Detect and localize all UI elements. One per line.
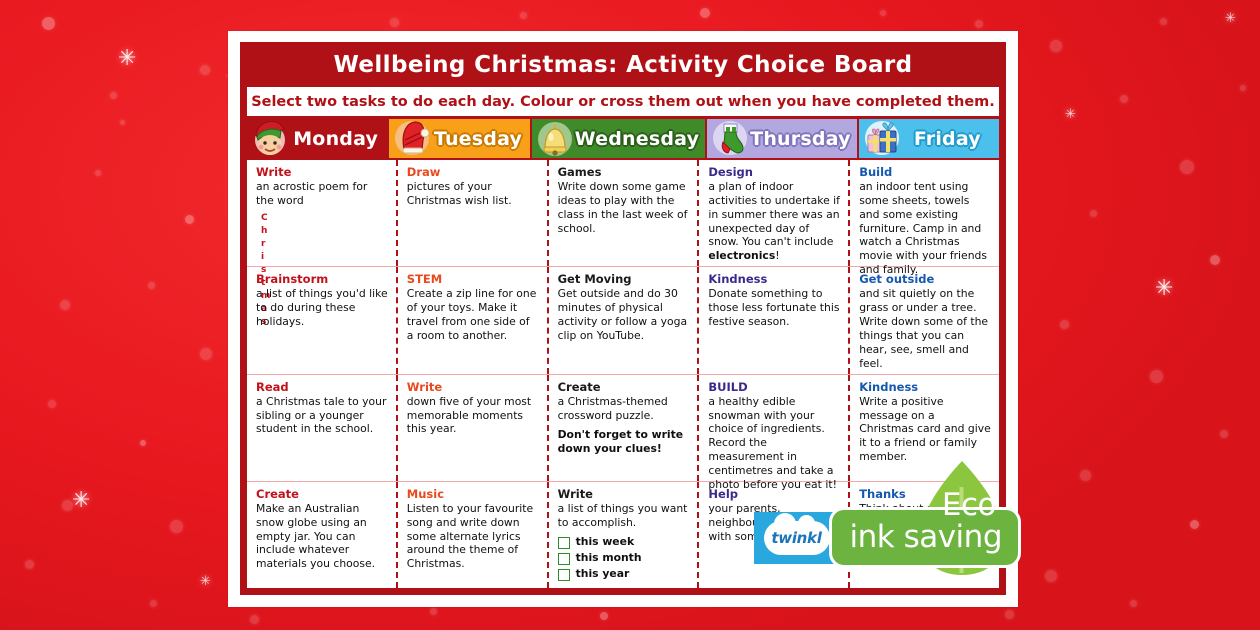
activity-cell[interactable]: Writea list of things you want to accomp… <box>549 482 700 588</box>
activity-cell[interactable]: Drawpictures of your Christmas wish list… <box>398 160 549 266</box>
activity-row: Reada Christmas tale to your sibling or … <box>247 375 999 482</box>
activity-body: down five of your most memorable moments… <box>407 395 539 436</box>
activity-cell[interactable]: Get MovingGet outside and do 30 minutes … <box>549 267 700 373</box>
activity-title: Music <box>407 488 539 501</box>
activity-title: Design <box>708 166 840 179</box>
activity-body: a plan of indoor activities to undertake… <box>708 180 840 263</box>
activity-cell[interactable]: Createa Christmas-themed crossword puzzl… <box>549 375 700 481</box>
day-label: Friday <box>902 128 999 150</box>
checkbox-icon[interactable] <box>558 569 570 581</box>
background-dot <box>170 520 183 533</box>
activity-title: Help <box>708 488 840 501</box>
background-dot <box>110 92 117 99</box>
activity-body: Listen to your favourite song and write … <box>407 502 539 571</box>
background-dot <box>200 65 210 75</box>
checkbox-group: this weekthis monththis year <box>558 537 690 581</box>
activity-cell[interactable]: Designa plan of indoor activities to und… <box>699 160 850 266</box>
sparkle-icon: ✳ <box>1155 278 1173 300</box>
background-dot <box>975 20 983 28</box>
activity-title: BUILD <box>708 381 840 394</box>
elf-face-icon <box>250 118 290 158</box>
activity-title: Kindness <box>708 273 840 286</box>
cloud-icon: twinkl <box>764 521 830 555</box>
activity-cell[interactable]: GamesWrite down some game ideas to play … <box>549 160 700 266</box>
activity-cell[interactable]: BUILDa healthy edible snowman with your … <box>699 375 850 481</box>
activity-body-text: a list of things you want to accomplish. <box>558 502 688 529</box>
day-label: Tuesday <box>432 128 529 150</box>
checkbox-row[interactable]: this week <box>558 537 690 549</box>
background-dot <box>700 8 710 18</box>
background-dot <box>62 500 73 511</box>
activity-body: and sit quietly on the grass or under a … <box>859 287 991 370</box>
day-header-thursday: Thursday <box>707 119 859 158</box>
activity-body-text: Write a positive message on a Christmas … <box>859 395 991 463</box>
background-dot <box>1080 470 1091 481</box>
checkbox-row[interactable]: this year <box>558 569 690 581</box>
acrostic-letter: C <box>261 212 388 225</box>
activity-body-text: a list of things you'd like to do during… <box>256 287 388 328</box>
activity-body-text: Create a zip line for one of your toys. … <box>407 287 537 341</box>
activity-body: a list of things you'd like to do during… <box>256 287 388 328</box>
activity-row: Brainstorma list of things you'd like to… <box>247 267 999 374</box>
activity-body: Create a zip line for one of your toys. … <box>407 287 539 342</box>
activity-title: Write <box>558 488 690 501</box>
day-label: Thursday <box>750 128 857 150</box>
activity-body-text: a healthy edible snowman with your choic… <box>708 395 837 491</box>
activity-cell[interactable]: Writedown five of your most memorable mo… <box>398 375 549 481</box>
background-dot <box>1190 520 1199 529</box>
activity-body: Make an Australian snow globe using an e… <box>256 502 388 571</box>
background-dot <box>1005 610 1014 619</box>
background-dot <box>48 400 56 408</box>
day-label: Monday <box>290 128 387 150</box>
background-dot <box>600 612 608 620</box>
background-dot <box>430 608 437 615</box>
acrostic-letter: i <box>261 251 388 264</box>
background-dot <box>1180 160 1194 174</box>
activity-cell[interactable]: CreateMake an Australian snow globe usin… <box>247 482 398 588</box>
sparkle-icon: ✳ <box>1225 12 1236 25</box>
day-header-monday: Monday <box>247 119 389 158</box>
activity-extra-note: Don't forget to write down your clues! <box>558 428 690 456</box>
ink-saving-label: ink saving <box>850 522 1003 553</box>
sparkle-icon: ✳ <box>72 490 90 512</box>
activity-title: Create <box>558 381 690 394</box>
background-dot <box>1130 600 1137 607</box>
activity-title: Get Moving <box>558 273 690 286</box>
background-dot <box>520 12 527 19</box>
activity-body-text: Listen to your favourite song and write … <box>407 502 533 570</box>
activity-body-text: Write down some game ideas to play with … <box>558 180 688 234</box>
poster-card: Wellbeing Christmas: Activity Choice Boa… <box>228 31 1018 607</box>
activity-title: Create <box>256 488 388 501</box>
activity-title: Kindness <box>859 381 991 394</box>
day-header-friday: Friday <box>859 119 999 158</box>
jingle-bell-icon <box>535 118 575 158</box>
ink-saving-eco-badge: twinkl ink saving Eco <box>754 510 1019 565</box>
day-header-row: MondayTuesdayWednesdayThursdayFriday <box>247 119 999 158</box>
instruction-text: Select two tasks to do each day. Colour … <box>251 94 995 110</box>
activity-body-text: down five of your most memorable moments… <box>407 395 531 436</box>
background-dot <box>1160 18 1167 25</box>
sparkle-icon: ✳ <box>200 575 211 588</box>
background-dot <box>42 17 55 30</box>
activity-title: Get outside <box>859 273 991 286</box>
activity-body-text: an acrostic poem for the word <box>256 180 367 207</box>
activity-body-text: a Christmas-themed crossword puzzle. <box>558 395 668 422</box>
background-dot <box>95 170 101 176</box>
activity-body-text: a plan of indoor activities to undertake… <box>708 180 840 248</box>
activity-cell[interactable]: STEMCreate a zip line for one of your to… <box>398 267 549 373</box>
checkbox-label: this week <box>576 537 635 548</box>
background-dot <box>1050 40 1062 52</box>
activity-body-text: Make an Australian snow globe using an e… <box>256 502 375 570</box>
activity-body: a list of things you want to accomplish. <box>558 502 690 530</box>
title-bar: Wellbeing Christmas: Activity Choice Boa… <box>240 42 1006 87</box>
background-dot <box>140 440 146 446</box>
activity-cell[interactable]: Buildan indoor tent using some sheets, t… <box>850 160 999 266</box>
activity-row: Writean acrostic poem for the wordChrist… <box>247 160 999 267</box>
sparkle-icon: ✳ <box>1065 108 1076 121</box>
activity-body: a Christmas-themed crossword puzzle. <box>558 395 690 423</box>
activity-body-text: an indoor tent using some sheets, towels… <box>859 180 987 276</box>
background-dot <box>880 10 886 16</box>
gifts-icon <box>862 118 902 158</box>
background-dot <box>1060 320 1069 329</box>
activity-title: Games <box>558 166 690 179</box>
sparkle-icon: ✳ <box>118 48 136 70</box>
activity-body-text: and sit quietly on the grass or under a … <box>859 287 988 369</box>
acrostic-letter: r <box>261 238 388 251</box>
activity-body: an indoor tent using some sheets, towels… <box>859 180 991 277</box>
page-title: Wellbeing Christmas: Activity Choice Boa… <box>333 52 912 78</box>
day-header-wednesday: Wednesday <box>532 119 708 158</box>
activity-cell[interactable]: Reada Christmas tale to your sibling or … <box>247 375 398 481</box>
activity-body: an acrostic poem for the word <box>256 180 388 208</box>
twinkl-logo: twinkl <box>754 512 840 564</box>
activity-title: Draw <box>407 166 539 179</box>
activity-body-text: a Christmas tale to your sibling or a yo… <box>256 395 386 436</box>
activity-cell[interactable]: Get outsideand sit quietly on the grass … <box>850 267 999 373</box>
background-dot <box>1045 570 1057 582</box>
activity-body-text: Get outside and do 30 minutes of physica… <box>558 287 688 341</box>
checkbox-label: this year <box>576 569 630 580</box>
activity-body-text: Donate something to those less fortunate… <box>708 287 839 328</box>
activity-title: Read <box>256 381 388 394</box>
activity-title: Brainstorm <box>256 273 388 286</box>
instruction-bar: Select two tasks to do each day. Colour … <box>247 87 999 116</box>
activity-title: STEM <box>407 273 539 286</box>
activity-body: pictures of your Christmas wish list. <box>407 180 539 208</box>
day-header-tuesday: Tuesday <box>389 119 531 158</box>
santa-hat-icon <box>392 118 432 158</box>
activity-body-tail: ! <box>775 249 779 262</box>
checkbox-row[interactable]: this month <box>558 553 690 565</box>
background-dot <box>390 18 399 27</box>
background-dot <box>200 348 212 360</box>
background-dot <box>120 120 125 125</box>
activity-body: Get outside and do 30 minutes of physica… <box>558 287 690 342</box>
activity-body: Write a positive message on a Christmas … <box>859 395 991 464</box>
activity-body: Write down some game ideas to play with … <box>558 180 690 235</box>
background-dot <box>1090 210 1097 217</box>
background-dot <box>60 300 70 310</box>
checkbox-label: this month <box>576 553 642 564</box>
background-dot <box>148 282 155 289</box>
activity-cell[interactable]: MusicListen to your favourite song and w… <box>398 482 549 588</box>
activity-title: Write <box>256 166 388 179</box>
acrostic-letter: h <box>261 225 388 238</box>
background-dot <box>185 215 194 224</box>
background-dot <box>25 560 34 569</box>
activity-cell[interactable]: Brainstorma list of things you'd like to… <box>247 267 398 373</box>
twinkl-brand-label: twinkl <box>771 529 821 547</box>
activity-body-emphasis: electronics <box>708 249 775 262</box>
background-dot <box>250 615 259 624</box>
day-label: Wednesday <box>575 128 706 150</box>
activity-body: a healthy edible snowman with your choic… <box>708 395 840 492</box>
activity-cell[interactable]: KindnessDonate something to those less f… <box>699 267 850 373</box>
eco-label: Eco <box>942 490 996 521</box>
activity-cell[interactable]: Writean acrostic poem for the wordChrist… <box>247 160 398 266</box>
stocking-icon <box>710 118 750 158</box>
checkbox-icon[interactable] <box>558 537 570 549</box>
activity-title: Write <box>407 381 539 394</box>
background-dot <box>1240 85 1246 91</box>
background-dot <box>1220 430 1228 438</box>
activity-body: Donate something to those less fortunate… <box>708 287 840 328</box>
activity-body: a Christmas tale to your sibling or a yo… <box>256 395 388 436</box>
activity-title: Build <box>859 166 991 179</box>
background-dot <box>1120 95 1128 103</box>
background-dot <box>150 600 157 607</box>
background-dot <box>1210 255 1220 265</box>
background-dot <box>1150 370 1163 383</box>
checkbox-icon[interactable] <box>558 553 570 565</box>
activity-body-text: pictures of your Christmas wish list. <box>407 180 512 207</box>
